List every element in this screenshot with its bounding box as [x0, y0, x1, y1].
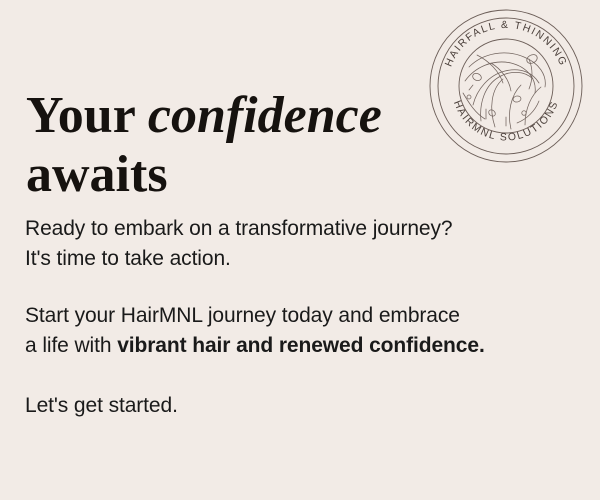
headline-prefix: Your	[26, 87, 148, 144]
promo-slide: HAIRFALL & THINNING HAIRMNL SOLUTIONS	[0, 0, 600, 500]
paragraph-intro-line1: Ready to embark on a transformative jour…	[25, 217, 453, 240]
paragraph-intro: Ready to embark on a transformative jour…	[25, 214, 581, 274]
paragraph-cta: Start your HairMNL journey today and emb…	[25, 301, 581, 361]
logo-hair-strands-art	[463, 53, 545, 129]
paragraph-intro-line2: It's time to take action.	[25, 247, 231, 270]
paragraph-cta-line2-prefix: a life with	[25, 334, 117, 357]
paragraph-cta-line1: Start your HairMNL journey today and emb…	[25, 304, 460, 327]
headline-emphasis: confidence	[148, 87, 382, 144]
page-title: Your confidence awaits	[26, 87, 426, 205]
logo-top-arc-text: HAIRFALL & THINNING	[444, 20, 569, 69]
paragraph-cta-bold: vibrant hair and renewed confidence.	[117, 334, 485, 357]
paragraph-closing: Let's get started.	[25, 391, 581, 421]
body-copy: Ready to embark on a transformative jour…	[25, 214, 581, 421]
headline-line2: awaits	[26, 146, 168, 203]
hairmnl-logo-badge: HAIRFALL & THINNING HAIRMNL SOLUTIONS	[429, 9, 583, 163]
